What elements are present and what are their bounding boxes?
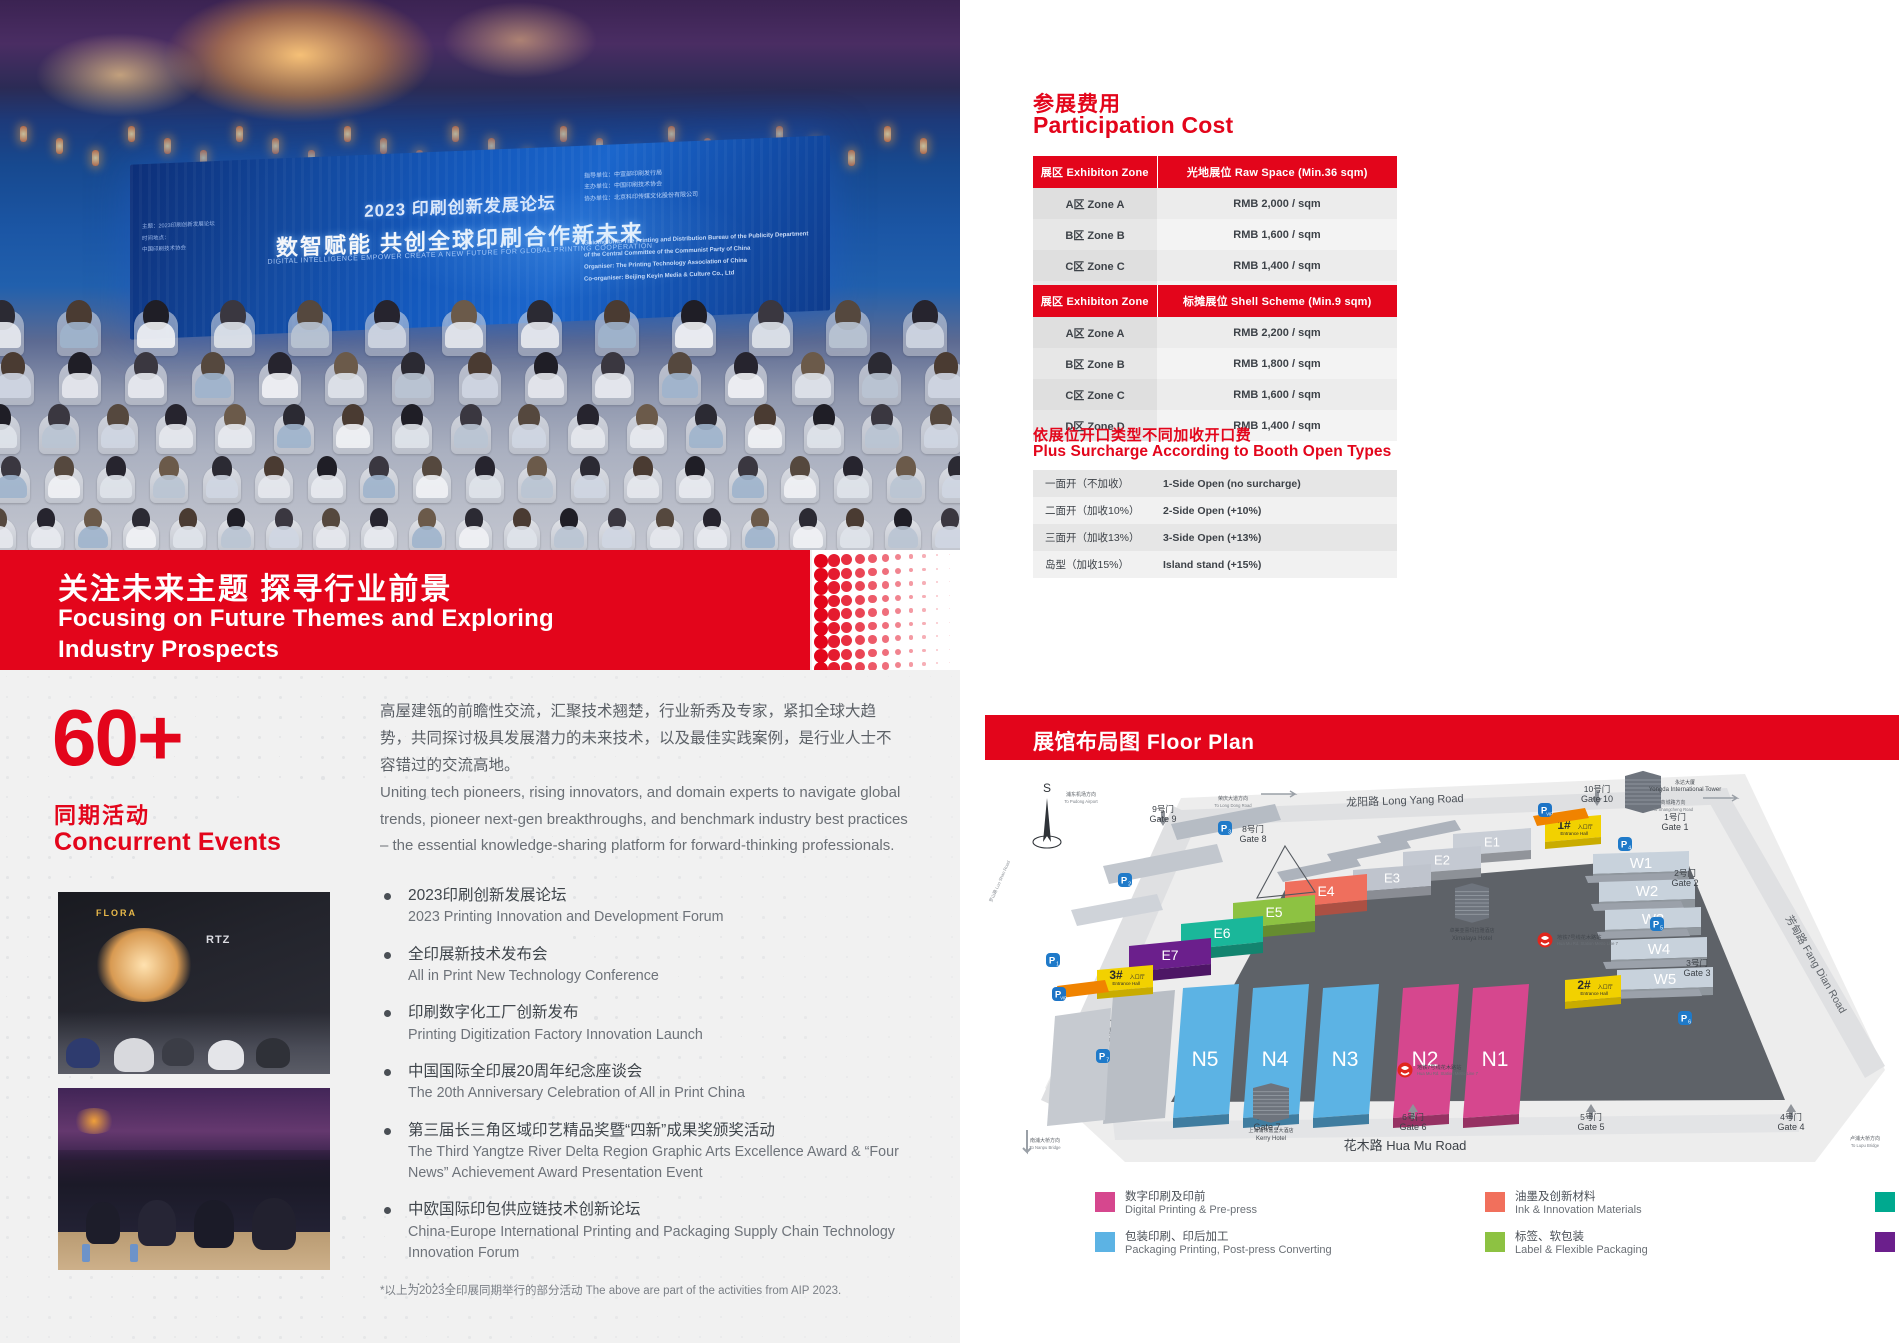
concurrent-label-en: Concurrent Events — [54, 828, 281, 857]
legend-label-en: Ink & Innovation Materials — [1515, 1204, 1642, 1216]
screen-slogan-en: DIGITAL INTELLIGENCE EMPOWER CREATE A NE… — [240, 242, 680, 267]
price-cell: RMB 2,000 / sqm — [1157, 188, 1397, 219]
list-item: 第三届长三角区域印艺精品奖暨“四新”成果奖颁奖活动The Third Yangt… — [380, 1120, 925, 1185]
screen-left-note: 主题：2023印刷创新发展论坛 时间地点： 中国印刷技术协会 — [142, 218, 252, 257]
gate-en: Gate 3 — [1683, 968, 1710, 978]
raw-header-zone: 展区 Exhibiton Zone — [1033, 156, 1157, 188]
gate-Gate-3: 3号门Gate 3 — [1683, 958, 1710, 978]
legend-swatch — [1485, 1232, 1505, 1252]
concurrent-count: 60+ — [52, 698, 182, 778]
floor-plan-legend: 数字印刷及印前Digital Printing & Pre-press油墨及创新… — [1095, 1190, 1895, 1270]
parking-icon-P2: P2 — [1118, 873, 1132, 888]
parking-sub: 3 — [1228, 830, 1231, 836]
table-row: 岛型（加收15%）Island stand (+15%) — [1033, 551, 1397, 578]
gate-en: Gate 5 — [1577, 1122, 1604, 1132]
surcharge-type-cn: 一面开（不加收） — [1033, 470, 1151, 497]
table-row: 一面开（不加收）1-Side Open (no surcharge) — [1033, 470, 1397, 497]
zone-cell: B区 Zone B — [1033, 348, 1157, 379]
surcharge-type-en: 1-Side Open (no surcharge) — [1151, 470, 1397, 497]
legend-label-en: Packaging Printing, Post-press Convertin… — [1125, 1244, 1332, 1256]
surcharge-type-cn: 三面开（加收13%） — [1033, 524, 1151, 551]
entrance-hall-2#: 2#入口厅Entrance Hall — [1565, 975, 1621, 1009]
event-name-cn: 第三届长三角区域印艺精品奖暨“四新”成果奖颁奖活动 — [408, 1120, 925, 1142]
parking-icon-P4: P4 — [1618, 837, 1632, 852]
parking-sub: 6 — [1688, 1020, 1691, 1026]
landmark-cn-ximalaya: 卓美亚喜玛拉雅酒店 — [1449, 927, 1494, 934]
zone-cell: B区 Zone B — [1033, 219, 1157, 250]
conference-hero-photo: 2023 印刷创新发展论坛 数智赋能 共创全球印刷合作新未来 DIGITAL I… — [0, 0, 960, 550]
hall-label-W4: W4 — [1648, 941, 1671, 958]
gate-en: Gate 10 — [1581, 794, 1613, 804]
gate-cn: 3号门 — [1686, 958, 1708, 968]
floor-plan-svg: 罗山路 Luo Shan Road龙阳路 Long Yang Road花木路 H… — [985, 770, 1899, 1170]
list-item: 中国国际全印展20周年纪念座谈会The 20th Anniversary Cel… — [380, 1061, 925, 1105]
direction-cn-5: 卢浦大桥方向 — [1850, 1135, 1880, 1142]
event-name-cn: 中国国际全印展20周年纪念座谈会 — [408, 1061, 925, 1083]
legend-swatch — [1095, 1232, 1115, 1252]
entrance-cn: 入口厅 — [1598, 985, 1613, 991]
event-name-en: The 20th Anniversary Celebration of All … — [408, 1083, 925, 1104]
entrance-number: 2# — [1577, 978, 1591, 992]
metro-en: Hua Mu Rd. Station Metro Line 7 — [1417, 1071, 1479, 1076]
surcharge-title-en: Plus Surcharge According to Booth Open T… — [1033, 443, 1391, 461]
parking-letter: P — [1221, 824, 1228, 835]
hall-label-W2: W2 — [1636, 883, 1659, 900]
gate-Gate-1: 1号门Gate 1 — [1661, 812, 1688, 832]
price-cell: RMB 1,600 / sqm — [1157, 219, 1397, 250]
road-label-huamu: 花木路 Hua Mu Road — [1344, 1138, 1467, 1153]
gate-cn: 1号门 — [1664, 812, 1686, 822]
table-row: B区 Zone BRMB 1,800 / sqm — [1033, 348, 1397, 379]
audience-crowd — [0, 300, 960, 550]
building-ximalaya — [1455, 883, 1489, 923]
table-row: A区 Zone ARMB 2,000 / sqm — [1033, 188, 1397, 219]
hall-N2: N2 — [1393, 984, 1459, 1128]
event-name-en: All in Print New Technology Conference — [408, 966, 925, 987]
direction-en-1: To Pudong Airport — [1064, 799, 1098, 804]
legend-row-1: 数字印刷及印前Digital Printing & Pre-press油墨及创新… — [1095, 1190, 1895, 1230]
participation-cost-block: 参展费用 Participation Cost 展区 Exhibiton Zon… — [985, 0, 1899, 600]
surcharge-type-en: 2-Side Open (+10%) — [1151, 497, 1397, 524]
hall-label-E4: E4 — [1317, 883, 1334, 899]
hall-label-W1: W1 — [1630, 855, 1653, 872]
event-name-cn: 2023印刷创新发展论坛 — [408, 885, 925, 907]
legend-label-en: Label & Flexible Packaging — [1515, 1244, 1648, 1256]
hall-label-N1: N1 — [1482, 1048, 1509, 1071]
gate-Gate-10: 10号门Gate 10 — [1581, 784, 1613, 806]
parking-sub: VIP — [1546, 812, 1553, 817]
direction-en-5: To Lupu Bridge — [1851, 1143, 1880, 1148]
landmark-en-yongda: Yongda International Tower — [1649, 787, 1721, 793]
event-name-cn: 印刷数字化工厂创新发布 — [408, 1002, 925, 1024]
parking-sub: 4 — [1628, 846, 1631, 852]
compass-label: S — [1043, 781, 1051, 795]
parking-sub: VIP — [1060, 996, 1067, 1001]
zone-cell: C区 Zone C — [1033, 379, 1157, 410]
table-row: 三面开（加收13%）3-Side Open (+13%) — [1033, 524, 1397, 551]
legend-swatch — [1485, 1192, 1505, 1212]
landmark-en-ximalaya: Ximalaya Hotel — [1452, 936, 1492, 942]
parking-icon-P6: P6 — [1678, 1011, 1692, 1026]
right-column: 参展费用 Participation Cost 展区 Exhibiton Zon… — [985, 0, 1899, 1343]
parking-sub: 2 — [1128, 882, 1131, 888]
gate-cn: 9号门 — [1152, 804, 1174, 814]
hall-N3: N3 — [1313, 984, 1379, 1128]
gate-en: Gate 6 — [1399, 1122, 1426, 1132]
halftone-dots-decoration — [812, 550, 960, 670]
price-cell: RMB 1,600 / sqm — [1157, 379, 1397, 410]
list-item: 印刷数字化工厂创新发布Printing Digitization Factory… — [380, 1002, 925, 1046]
surcharge-type-cn: 二面开（加收10%） — [1033, 497, 1151, 524]
shell-scheme-price-table: 展区 Exhibiton Zone 标摊展位 Shell Scheme (Min… — [1033, 285, 1397, 441]
parking-sub: 1 — [1056, 962, 1059, 968]
hall-label-E3: E3 — [1384, 871, 1400, 886]
hall-label-N5: N5 — [1192, 1048, 1219, 1071]
entrance-en: Entrance Hall — [1580, 991, 1608, 996]
direction-cn-1: 浦东机场方向 — [1066, 791, 1096, 798]
landmark-cn-yongda: 永达大厦 — [1675, 779, 1695, 786]
shell-header-price: 标摊展位 Shell Scheme (Min.9 sqm) — [1157, 285, 1397, 317]
hall-label-E5: E5 — [1265, 904, 1282, 920]
legend-swatch — [1095, 1192, 1115, 1212]
zone-cell: A区 Zone A — [1033, 317, 1157, 348]
hall-label-N4: N4 — [1262, 1048, 1289, 1071]
service-block-left — [1103, 990, 1175, 1124]
direction-en-3: To Nanpu Bridge — [1029, 1145, 1061, 1150]
entrance-cn: 入口厅 — [1578, 825, 1593, 831]
legend-label-cn: 油墨及创新材料 — [1515, 1188, 1596, 1204]
landmark-en-kerry: Kerry Hotel — [1256, 1136, 1286, 1142]
service-block-left2 — [1047, 1008, 1111, 1126]
building-kerry — [1253, 1083, 1289, 1123]
gate-en: Gate 8 — [1239, 834, 1266, 844]
parking-letter: P — [1653, 920, 1660, 931]
hall-label-N3: N3 — [1332, 1048, 1359, 1071]
list-item: 全印展新技术发布会All in Print New Technology Con… — [380, 944, 925, 988]
list-item: 中欧国际印包供应链技术创新论坛China-Europe Internationa… — [380, 1199, 925, 1264]
direction-en-2: To Long Dong Road — [1214, 803, 1252, 808]
entrance-en: Entrance Hall — [1112, 981, 1140, 986]
legend-label-cn: 数字印刷及印前 — [1125, 1188, 1206, 1204]
entrance-en: Entrance Hall — [1560, 831, 1588, 836]
parking-icon-P3: P3 — [1218, 821, 1232, 836]
event-name-en: 2023 Printing Innovation and Development… — [408, 907, 925, 928]
direction-en-4: To Shangcheng Road — [1653, 807, 1694, 812]
entrance-cn: 入口厅 — [1130, 975, 1145, 981]
hall-N1: N1 — [1463, 984, 1529, 1128]
legend-row-2: 包装印刷、印后加工Packaging Printing, Post-press … — [1095, 1230, 1895, 1270]
parking-letter: P — [1049, 956, 1056, 967]
table-row: 二面开（加收10%）2-Side Open (+10%) — [1033, 497, 1397, 524]
event-name-en: The Third Yangtze River Delta Region Gra… — [408, 1142, 925, 1184]
concurrent-events-section: 60+ 同期活动 Concurrent Events 高屋建瓴的前瞻性交流，汇聚… — [0, 670, 960, 1343]
raw-header-price: 光地展位 Raw Space (Min.36 sqm) — [1157, 156, 1397, 188]
gate-cn: 8号门 — [1242, 824, 1264, 834]
events-list: 2023印刷创新发展论坛2023 Printing Innovation and… — [380, 885, 925, 1292]
zone-cell: A区 Zone A — [1033, 188, 1157, 219]
entrance-number: 3# — [1109, 968, 1123, 982]
direction-cn-4: 商城路方向 — [1660, 799, 1685, 806]
parking-letter: P — [1621, 840, 1628, 851]
gate-Gate-2: 2号门Gate 2 — [1671, 868, 1698, 888]
event-name-en: Printing Digitization Factory Innovation… — [408, 1025, 925, 1046]
screen-slogan-cn: 数智赋能 共创全球印刷合作新未来 — [240, 214, 680, 264]
metro-en: Hua Mu Rd. Station Metro Line 7 — [1557, 941, 1619, 946]
direction-cn-2: 荣庆大道方向 — [1218, 795, 1248, 802]
intro-paragraph-cn: 高屋建瓴的前瞻性交流，汇聚技术翘楚，行业新秀及专家，紧扣全球大趋势，共同探讨极具… — [380, 698, 902, 779]
metro-cn: 地铁7号线花木路站 — [1557, 933, 1601, 941]
gate-en: Gate 1 — [1661, 822, 1688, 832]
hall-label-E6: E6 — [1213, 925, 1230, 941]
hall-label-E1: E1 — [1484, 835, 1500, 850]
headline-cn: 关注未来主题 探寻行业前景 — [58, 564, 452, 608]
parking-letter: P — [1099, 1052, 1106, 1063]
table-row: B区 Zone BRMB 1,600 / sqm — [1033, 219, 1397, 250]
left-column: 2023 印刷创新发展论坛 数智赋能 共创全球印刷合作新未来 DIGITAL I… — [0, 0, 960, 1343]
floor-plan-header: 展馆布局图 Floor Plan — [985, 715, 1899, 760]
price-cell: RMB 1,400 / sqm — [1157, 250, 1397, 281]
gate-cn: 4号门 — [1780, 1112, 1802, 1122]
landmark-cn-kerry: 上海浦东嘉里大酒店 — [1248, 1127, 1293, 1134]
event-photo-flora-stage: FLORA RTZ — [58, 892, 330, 1074]
surcharge-title-cn: 依展位开口类型不同加收开口费 — [1033, 424, 1251, 445]
screen-title: 2023 印刷创新发展论坛 — [280, 185, 640, 225]
parking-letter: P — [1121, 876, 1128, 887]
price-cell: RMB 2,200 / sqm — [1157, 317, 1397, 348]
event-name-cn: 全印展新技术发布会 — [408, 944, 925, 966]
list-item: 2023印刷创新发展论坛2023 Printing Innovation and… — [380, 885, 925, 929]
surcharge-type-en: Island stand (+15%) — [1151, 551, 1397, 578]
floor-plan-map: 罗山路 Luo Shan Road龙阳路 Long Yang Road花木路 H… — [985, 770, 1899, 1170]
screen-credits-cn: 指导单位：中宣部印刷发行局 主办单位：中国印刷技术协会 协办单位：北京科印传媒文… — [584, 162, 814, 206]
gate-en: Gate 9 — [1149, 814, 1176, 824]
surcharge-type-en: 3-Side Open (+13%) — [1151, 524, 1397, 551]
metro-cn: 地铁7号线花木路站 — [1417, 1063, 1461, 1071]
hall-label-E7: E7 — [1161, 947, 1178, 963]
screen-credits-en: Guiding Unit: The Printing and Distribut… — [584, 228, 814, 286]
legend-swatch — [1875, 1232, 1895, 1252]
price-cell: RMB 1,800 / sqm — [1157, 348, 1397, 379]
gate-cn: 6号门 — [1402, 1112, 1424, 1122]
floor-plan-title: 展馆布局图 Floor Plan — [1033, 726, 1255, 756]
shell-header-zone: 展区 Exhibiton Zone — [1033, 285, 1157, 317]
surcharge-table: 一面开（不加收）1-Side Open (no surcharge)二面开（加收… — [1033, 470, 1397, 578]
cost-title-en: Participation Cost — [1033, 112, 1233, 139]
brochure-page: 2023 印刷创新发展论坛 数智赋能 共创全球印刷合作新未来 DIGITAL I… — [0, 0, 1899, 1343]
gate-en: Gate 2 — [1671, 878, 1698, 888]
parking-icon-P7: P7 — [1096, 1049, 1110, 1064]
concurrent-label-cn: 同期活动 — [54, 798, 150, 830]
table-row: C区 Zone CRMB 1,400 / sqm — [1033, 250, 1397, 281]
hall-N5: N5 — [1173, 984, 1239, 1128]
direction-cn-3: 南浦大桥方向 — [1030, 1137, 1060, 1144]
legend-label-en: Digital Printing & Pre-press — [1125, 1204, 1257, 1216]
legend-label-cn: 包装印刷、印后加工 — [1125, 1228, 1229, 1244]
legend-label-cn: 标签、软包装 — [1515, 1228, 1584, 1244]
zone-cell: C区 Zone C — [1033, 250, 1157, 281]
event-name-cn: 中欧国际印包供应链技术创新论坛 — [408, 1199, 925, 1221]
gate-cn: 2号门 — [1674, 868, 1696, 878]
table-row: C区 Zone CRMB 1,600 / sqm — [1033, 379, 1397, 410]
events-footnote: *以上为2023全印展同期举行的部分活动 The above are part … — [380, 1282, 920, 1298]
parking-icon-P1: P1 — [1046, 953, 1060, 968]
event-photo-panel-audience — [58, 1088, 330, 1270]
parking-sub: 7 — [1106, 1058, 1109, 1064]
intro-paragraph-en: Uniting tech pioneers, rising innovators… — [380, 780, 910, 860]
gate-Gate-8: 8号门Gate 8 — [1239, 824, 1266, 844]
gate-Gate-9: 9号门Gate 9 — [1149, 804, 1176, 826]
surcharge-type-cn: 岛型（加收15%） — [1033, 551, 1151, 578]
hall-label-W5: W5 — [1654, 971, 1677, 988]
legend-swatch — [1875, 1192, 1895, 1212]
parking-icon-P5: P5 — [1650, 917, 1664, 932]
parking-letter: P — [1681, 1014, 1688, 1025]
event-name-en: China-Europe International Printing and … — [408, 1222, 925, 1264]
headline-en: Focusing on Future Themes and ExploringI… — [58, 604, 554, 665]
parking-icon-PVIP: PVIP — [1538, 803, 1553, 817]
gate-en: Gate 4 — [1777, 1122, 1804, 1132]
gate-cn: 10号门 — [1584, 784, 1610, 794]
parking-sub: 5 — [1660, 926, 1663, 932]
table-row: A区 Zone ARMB 2,200 / sqm — [1033, 317, 1397, 348]
hall-label-E2: E2 — [1434, 853, 1450, 868]
parking-icon-PVIP: PVIP — [1052, 987, 1067, 1001]
headline-band: 关注未来主题 探寻行业前景 Focusing on Future Themes … — [0, 550, 810, 670]
gate-cn: 5号门 — [1580, 1112, 1602, 1122]
